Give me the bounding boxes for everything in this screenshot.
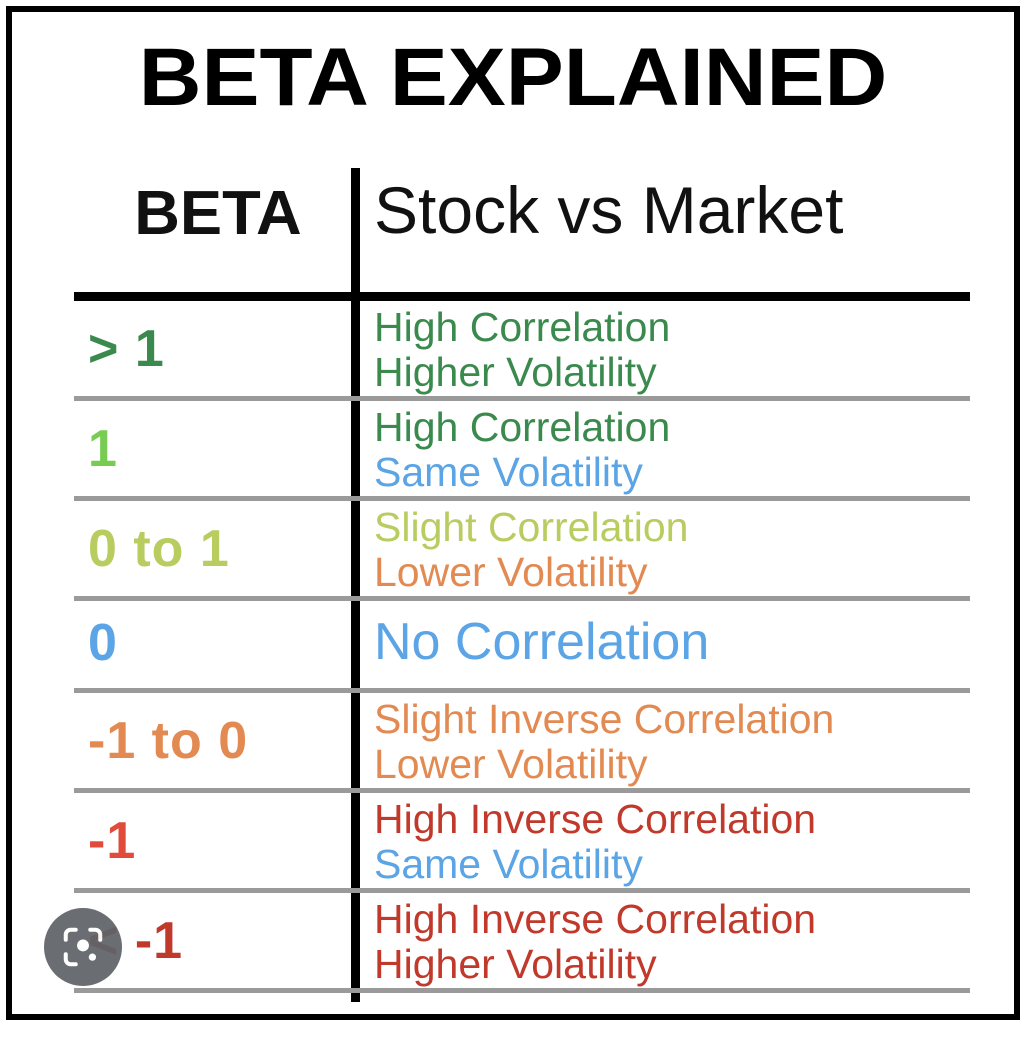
beta-value: 0 to 1 [74, 521, 342, 577]
table-header-row: BETA Stock vs Market [74, 162, 964, 280]
google-lens-camera-icon [60, 924, 106, 970]
header-divider-rule [74, 292, 970, 301]
table-row: > 1High CorrelationHigher Volatility [74, 301, 970, 401]
beta-description: Slight Inverse CorrelationLower Volatili… [374, 697, 970, 787]
description-line: Lower Volatility [374, 742, 970, 787]
beta-description: High Inverse CorrelationHigher Volatilit… [374, 897, 970, 987]
description-line: High Correlation [374, 405, 970, 450]
column-header-beta: BETA [85, 178, 350, 250]
description-line: Higher Volatility [374, 350, 970, 395]
image-frame: BETA EXPLAINED BETA Stock vs Market > 1H… [6, 6, 1020, 1020]
table-row: 0No Correlation [74, 601, 970, 693]
beta-table: BETA Stock vs Market [74, 162, 964, 280]
table-row: 0 to 1Slight CorrelationLower Volatility [74, 501, 970, 601]
beta-value: -1 to 0 [74, 713, 342, 769]
beta-value: 1 [74, 421, 342, 477]
description-line: Same Volatility [374, 842, 970, 887]
description-line: No Correlation [374, 603, 970, 673]
beta-value: -1 [74, 813, 342, 869]
beta-description: High Inverse CorrelationSame Volatility [374, 797, 970, 887]
table-row: -1 to 0Slight Inverse CorrelationLower V… [74, 693, 970, 793]
beta-description: High CorrelationSame Volatility [374, 405, 970, 495]
description-line: High Inverse Correlation [374, 897, 970, 942]
description-line: High Correlation [374, 305, 970, 350]
page-title: BETA EXPLAINED [0, 34, 1032, 122]
google-lens-button[interactable] [44, 908, 122, 986]
infographic-canvas: BETA EXPLAINED BETA Stock vs Market > 1H… [12, 12, 1014, 1014]
beta-value: 0 [74, 615, 342, 671]
table-body: > 1High CorrelationHigher Volatility1Hig… [74, 301, 970, 993]
beta-description: No Correlation [374, 603, 970, 673]
column-header-stock-vs-market: Stock vs Market [374, 170, 843, 250]
table-row: -1High Inverse CorrelationSame Volatilit… [74, 793, 970, 893]
beta-description: High CorrelationHigher Volatility [374, 305, 970, 395]
description-line: Same Volatility [374, 450, 970, 495]
table-row: < -1High Inverse CorrelationHigher Volat… [74, 893, 970, 993]
description-line: Slight Correlation [374, 505, 970, 550]
description-line: Lower Volatility [374, 550, 970, 595]
description-line: Slight Inverse Correlation [374, 697, 970, 742]
beta-description: Slight CorrelationLower Volatility [374, 505, 970, 595]
beta-value: > 1 [74, 321, 342, 377]
description-line: High Inverse Correlation [374, 797, 970, 842]
table-row: 1High CorrelationSame Volatility [74, 401, 970, 501]
description-line: Higher Volatility [374, 942, 970, 987]
